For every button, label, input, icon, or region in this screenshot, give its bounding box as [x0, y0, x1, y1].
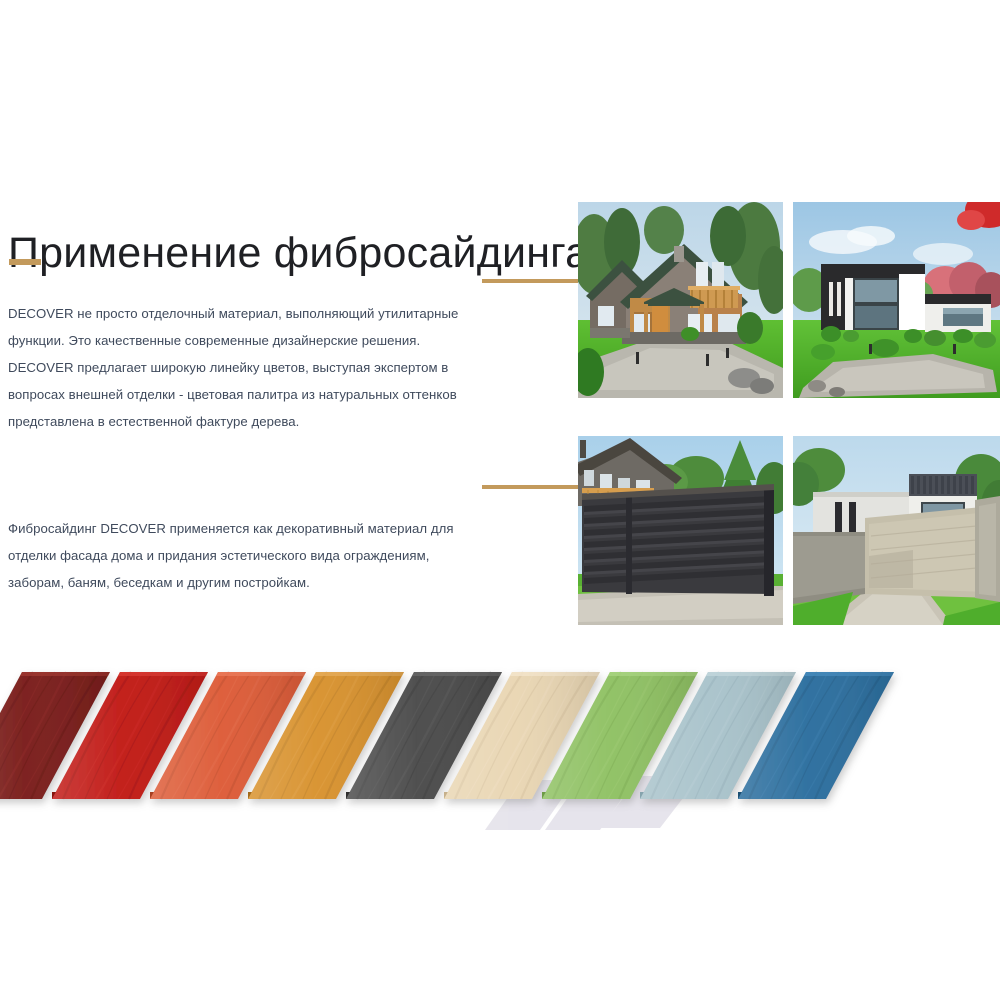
connector-line-bottom	[482, 485, 580, 489]
slide-root: Применение фибросайдинга DECOVER не прос…	[0, 0, 1000, 1000]
photo-modern-house	[793, 202, 1000, 398]
board-palette-illustration	[0, 630, 1000, 830]
application-paragraph: Фибросайдинг DECOVER применяется как дек…	[8, 515, 478, 596]
intro-paragraph: DECOVER не просто отделочный материал, в…	[8, 300, 478, 435]
photo-wooden-house	[578, 202, 783, 398]
dark-fence-illustration	[578, 436, 783, 625]
photo-concrete-fence	[793, 436, 1000, 625]
title-accent-rule	[9, 259, 41, 265]
application-paragraph-text: Фибросайдинг DECOVER применяется как дек…	[8, 515, 478, 596]
photo-dark-fence	[578, 436, 783, 625]
wooden-house-illustration	[578, 202, 783, 398]
page-title: Применение фибросайдинга	[8, 227, 589, 279]
intro-paragraph-text: DECOVER не просто отделочный материал, в…	[8, 300, 478, 435]
board-palette	[0, 630, 1000, 830]
modern-house-illustration	[793, 202, 1000, 398]
connector-line-top	[482, 279, 580, 283]
concrete-fence-illustration	[793, 436, 1000, 625]
